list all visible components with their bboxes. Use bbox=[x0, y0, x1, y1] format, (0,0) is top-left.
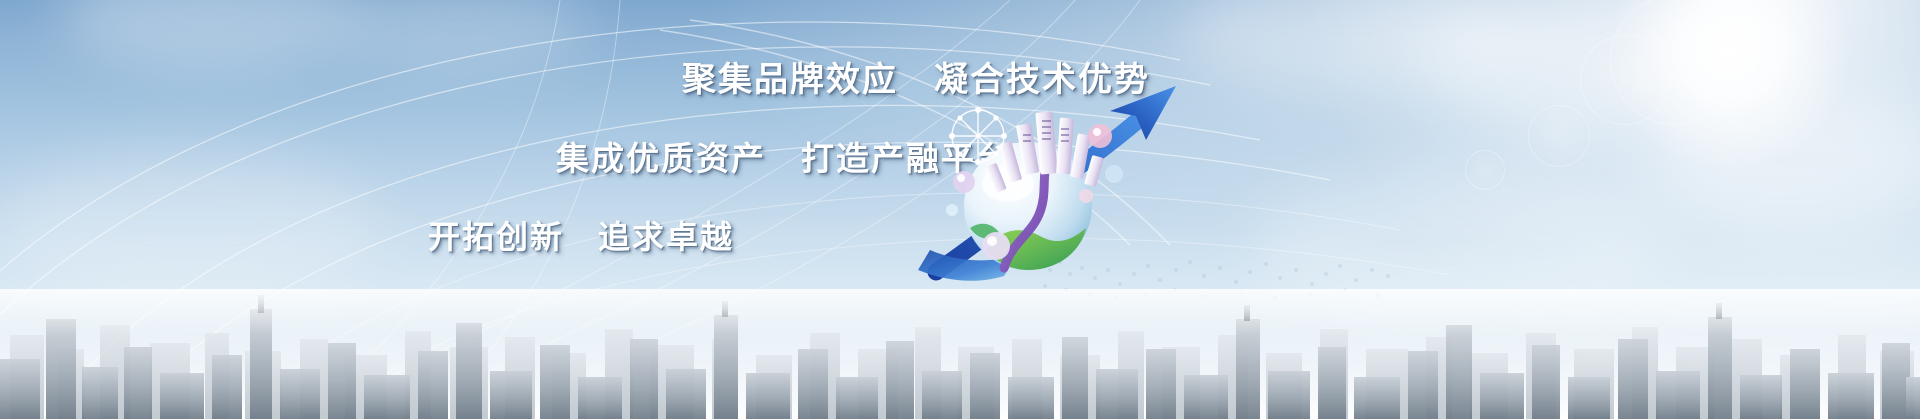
building-cluster bbox=[985, 111, 1104, 193]
lens-flare-ring bbox=[1465, 150, 1505, 190]
globe-with-buildings-icon bbox=[900, 78, 1220, 298]
cloud-shape bbox=[1250, 170, 1670, 320]
arc-lines-decoration bbox=[0, 0, 1920, 419]
hero-banner: 聚集品牌效应 凝合技术优势 集成优质资产 打造产融平台 开拓创新 追求卓越 bbox=[0, 0, 1920, 419]
cloud-shape bbox=[60, 0, 360, 70]
arrow-base-sweep bbox=[918, 250, 1018, 281]
slogan-group: 聚集品牌效应 凝合技术优势 集成优质资产 打造产融平台 开拓创新 追求卓越 bbox=[0, 0, 1100, 300]
globe-sphere bbox=[964, 142, 1092, 270]
slogan-line-2: 集成优质资产 打造产融平台 bbox=[556, 132, 1011, 180]
cloud-shape bbox=[0, 150, 380, 300]
world-map-dots bbox=[1000, 240, 1420, 310]
network-wheel-icon bbox=[952, 110, 1004, 162]
globe-landmass bbox=[986, 228, 1086, 270]
cloud-shape bbox=[330, 0, 590, 70]
cloud-shape bbox=[1430, 10, 1730, 130]
sun-flare-icon bbox=[1610, 0, 1850, 170]
cloud-layer bbox=[0, 0, 1920, 419]
lens-flare-ring bbox=[1580, 35, 1670, 125]
slogan-line-3: 开拓创新 追求卓越 bbox=[428, 212, 734, 258]
lens-flare-ring bbox=[1610, 0, 1740, 125]
slogan-line-1: 聚集品牌效应 凝合技术优势 bbox=[682, 52, 1150, 101]
growth-arrow-icon bbox=[936, 86, 1176, 272]
ribbon-path bbox=[1004, 156, 1050, 268]
lens-flare-ring bbox=[1528, 105, 1590, 167]
cloud-shape bbox=[1180, 0, 1520, 90]
cloud-shape bbox=[1650, 90, 1920, 230]
city-skyline-silhouette bbox=[0, 289, 1920, 419]
floating-orbs bbox=[946, 124, 1123, 260]
